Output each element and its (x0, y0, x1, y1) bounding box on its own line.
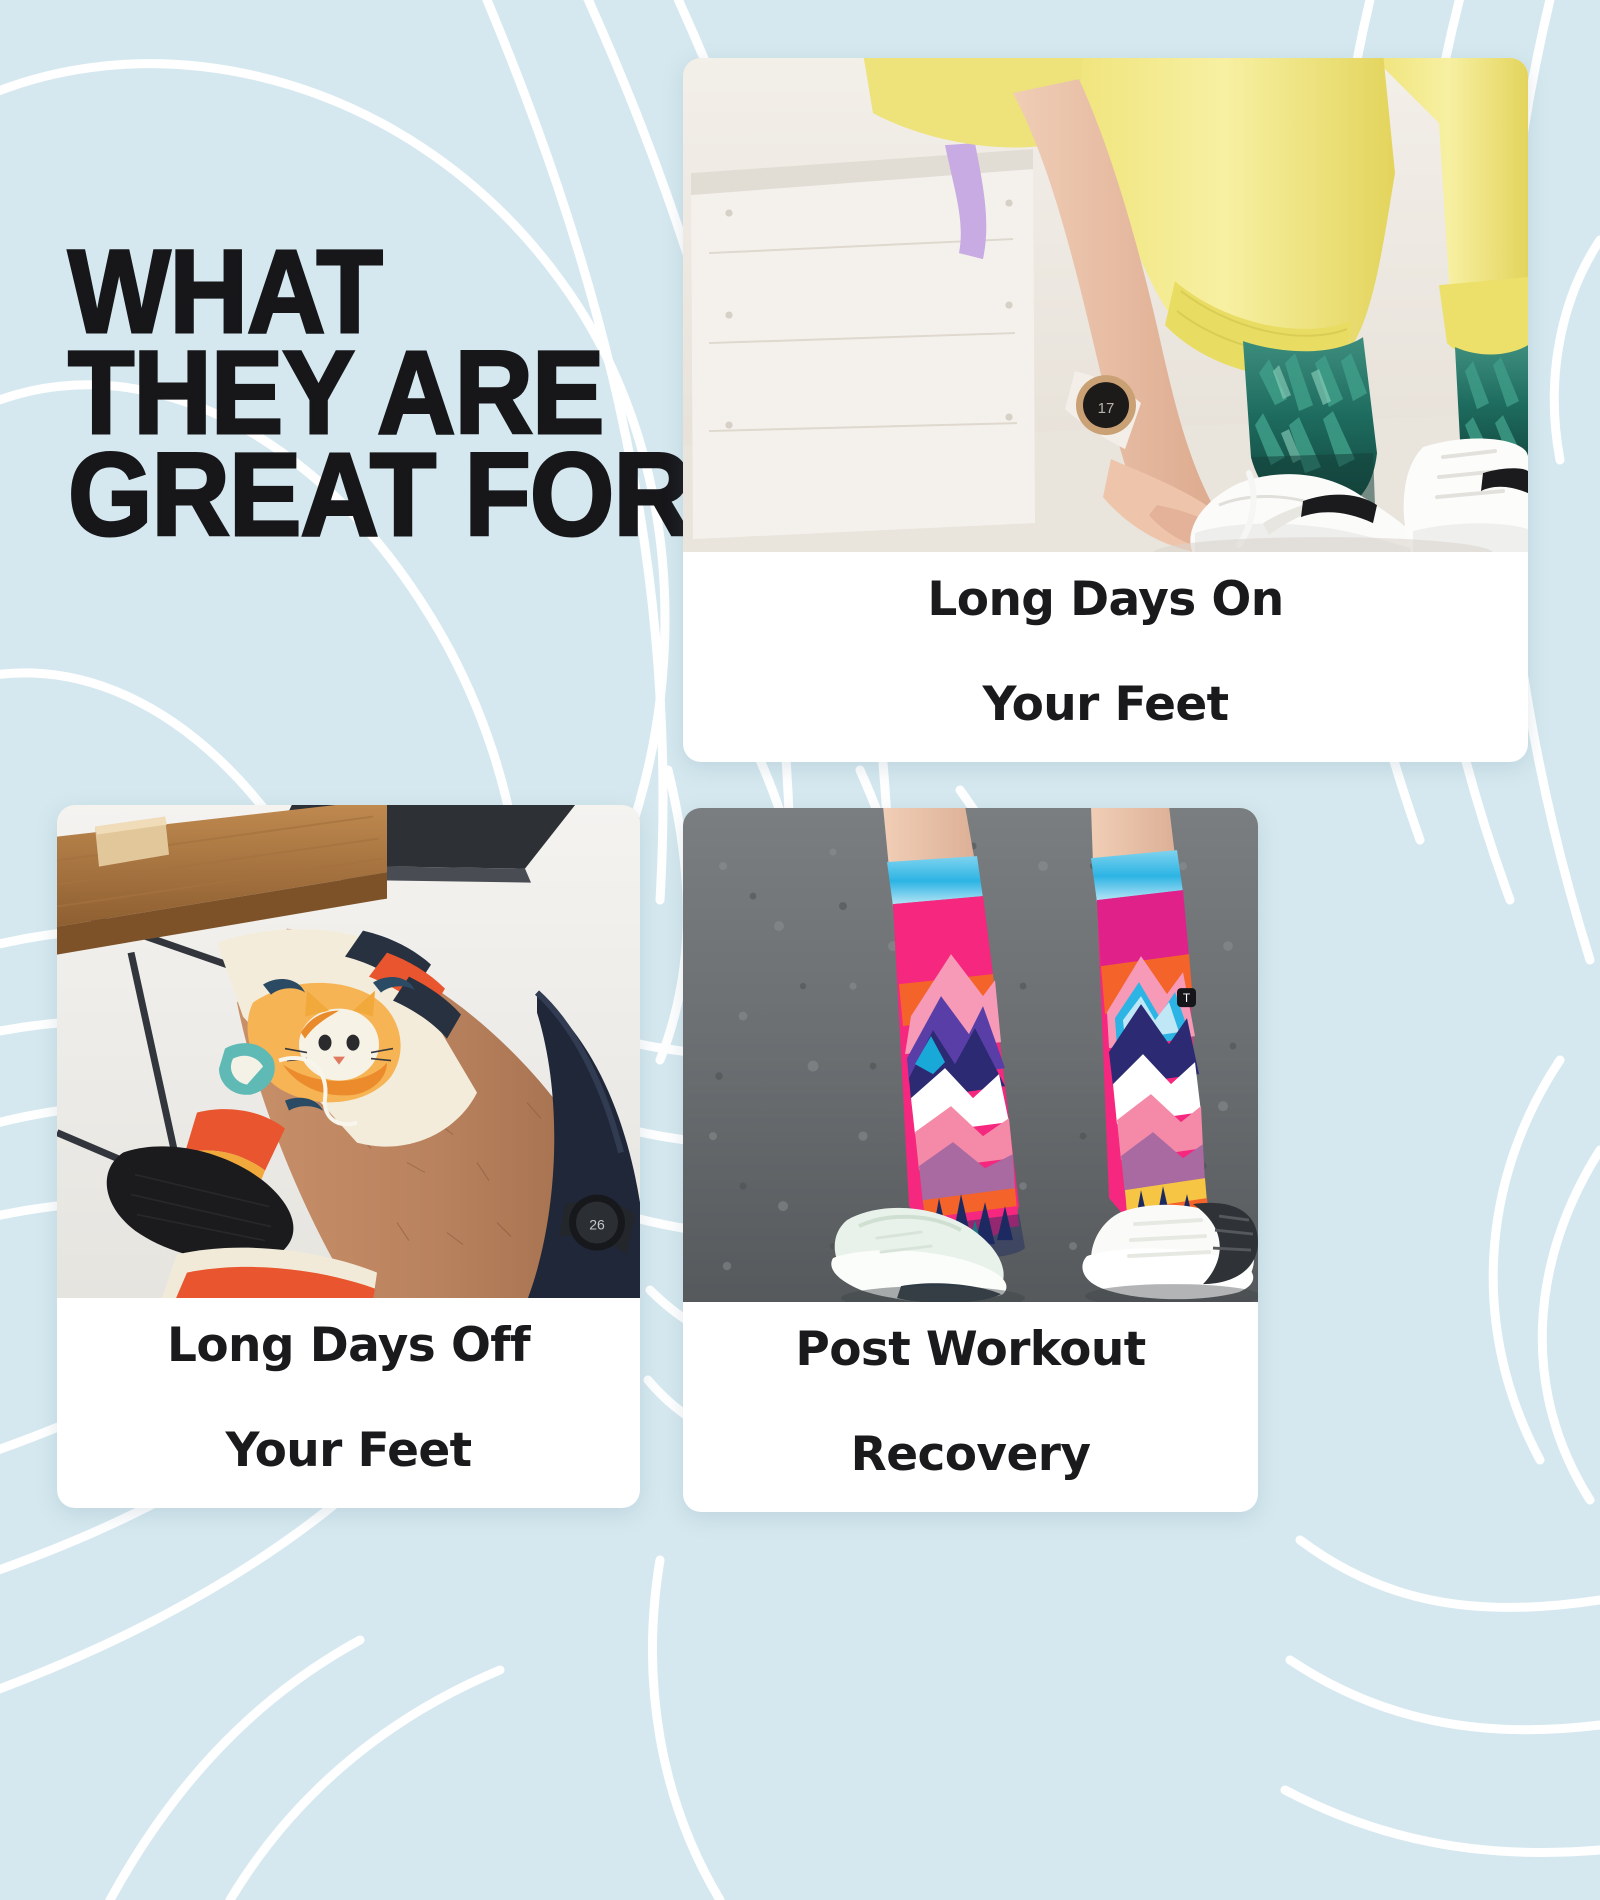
benefit-card-long-days-on[interactable]: 17 (683, 58, 1528, 762)
caption-line-1: Long Days On (927, 574, 1283, 627)
photo-long-days-on: 17 (683, 58, 1528, 552)
caption-line-1: Post Workout (795, 1324, 1145, 1377)
caption-post-workout: Post Workout Recovery (683, 1302, 1258, 1512)
svg-text:26: 26 (589, 1217, 605, 1233)
svg-text:17: 17 (1098, 400, 1115, 417)
benefit-card-long-days-off[interactable]: 26 Long Days Off Your Feet (57, 805, 640, 1508)
headline-line-3: GREAT FOR (68, 445, 620, 546)
caption-line-2: Recovery (795, 1429, 1145, 1482)
photo-post-workout: T (683, 808, 1258, 1302)
benefit-card-post-workout[interactable]: T (683, 808, 1258, 1512)
photo-long-days-off: 26 (57, 805, 640, 1298)
page-title: WHAT THEY ARE GREAT FOR (68, 242, 668, 546)
caption-line-1: Long Days Off (167, 1320, 530, 1373)
poster-canvas: WHAT THEY ARE GREAT FOR (0, 0, 1600, 1900)
caption-line-2: Your Feet (927, 679, 1283, 732)
caption-long-days-on: Long Days On Your Feet (683, 552, 1528, 762)
svg-text:T: T (1183, 991, 1191, 1005)
caption-line-2: Your Feet (167, 1425, 530, 1478)
caption-long-days-off: Long Days Off Your Feet (57, 1298, 640, 1508)
